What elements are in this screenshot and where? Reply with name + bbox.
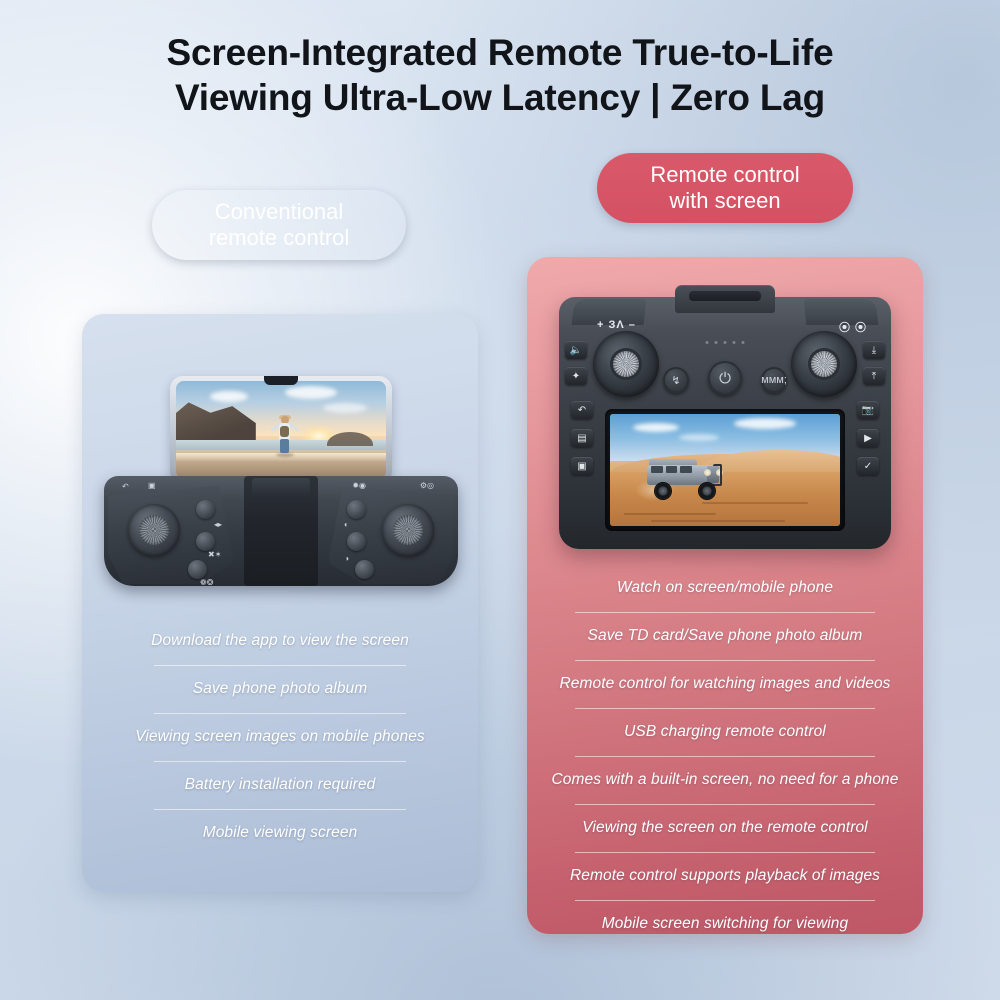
- mic-icon[interactable]: 🔈: [565, 341, 587, 359]
- return-icon: ↶: [122, 482, 129, 491]
- check-icon[interactable]: ✓: [857, 457, 879, 475]
- led-dot: [715, 341, 718, 344]
- menu-icon[interactable]: ▤: [571, 429, 593, 447]
- feature-item: Battery installation required: [82, 774, 478, 796]
- down-icon[interactable]: ⤓: [863, 341, 885, 359]
- card-remote-with-screen: + ЗΛ – ⦿ ⦿ ↯ ⏻ ммм; 🔈 ✦ ⤓ ⤒: [527, 257, 923, 934]
- arm-right: [289, 423, 300, 432]
- sand-ripple: [651, 520, 784, 522]
- badge-remote-with-screen: Remote control with screen: [597, 153, 853, 223]
- shoulder-buttons-right: ⤓ ⤒: [863, 341, 885, 385]
- cloud-icon: [633, 423, 679, 432]
- cloud-icon: [323, 403, 367, 413]
- side-buttons-right: 📷 ▶ ✓: [855, 401, 881, 475]
- led-dot: [724, 341, 727, 344]
- led-dot: [733, 341, 736, 344]
- divider: [575, 660, 875, 661]
- camera-icon[interactable]: 📷: [857, 401, 879, 419]
- built-in-screen-desert-scene: [610, 414, 840, 526]
- divider: [154, 713, 406, 714]
- controller-button-5[interactable]: [347, 532, 366, 551]
- badge-conventional-line-2: remote control: [209, 225, 350, 251]
- feature-item: Viewing the screen on the remote control: [527, 817, 923, 839]
- page-title: Screen-Integrated Remote True-to-Life Vi…: [0, 31, 1000, 121]
- wheel-front: [699, 483, 715, 499]
- divider: [575, 852, 875, 853]
- cloud-icon: [210, 391, 248, 402]
- feature-item: Mobile viewing screen: [82, 822, 478, 844]
- offroad-suv: [647, 459, 731, 503]
- divider: [575, 756, 875, 757]
- screen-remote-controller: + ЗΛ – ⦿ ⦿ ↯ ⏻ ммм; 🔈 ✦ ⤓ ⤒: [559, 297, 891, 549]
- gimbal-icon: ✖✶: [208, 550, 221, 559]
- phone-screen-beach-scene: [176, 381, 386, 479]
- legs: [280, 439, 289, 453]
- controller-button-4[interactable]: [347, 500, 366, 519]
- divider: [575, 612, 875, 613]
- joystick-right[interactable]: [791, 331, 857, 397]
- controller-button-6[interactable]: [355, 560, 374, 579]
- camera-icon: ▣: [148, 481, 156, 490]
- bull-bar: [713, 464, 722, 486]
- side-buttons-left: ↶ ▤ ▣: [569, 401, 595, 475]
- led-dot: [742, 341, 745, 344]
- gimbal-reset-button[interactable]: ммм;: [761, 367, 787, 393]
- divider: [575, 804, 875, 805]
- feature-item: Mobile screen switching for viewing: [527, 913, 923, 934]
- backpack: [280, 426, 289, 437]
- photo-icon: ◖: [343, 520, 348, 529]
- badge-conventional-line-1: Conventional: [209, 199, 350, 225]
- led-dot: [706, 341, 709, 344]
- suv-window: [666, 466, 677, 473]
- mode-icon: ❁❂: [200, 578, 213, 587]
- feature-item: Remote control supports playback of imag…: [527, 865, 923, 887]
- photo-icon[interactable]: ▣: [571, 457, 593, 475]
- feature-list-conventional: Download the app to view the screen Save…: [82, 630, 478, 844]
- badge-conventional-remote: Conventional remote control: [152, 190, 406, 260]
- suv-window: [651, 466, 663, 473]
- badge-screen-line-1: Remote control: [650, 162, 799, 188]
- video-icon: ◗: [345, 554, 350, 563]
- badge-screen-line-2: with screen: [650, 188, 799, 214]
- cloud-icon: [285, 386, 337, 399]
- suv-window: [680, 466, 692, 473]
- left-top-label: + ЗΛ –: [597, 319, 636, 331]
- person-with-raised-arms: [268, 413, 302, 457]
- video-icon[interactable]: ▶: [857, 429, 879, 447]
- divider: [154, 761, 406, 762]
- controller-button-3[interactable]: [188, 560, 207, 579]
- headlight: [704, 469, 711, 476]
- antenna-slot: [689, 291, 761, 301]
- light-icon: ✹◉: [352, 481, 366, 490]
- feature-item: Comes with a built-in screen, no need fo…: [527, 769, 923, 791]
- settings-icon: ⚙◎: [420, 481, 434, 490]
- feature-item: Download the app to view the screen: [82, 630, 478, 652]
- phone-notch: [264, 376, 298, 385]
- feature-item: USB charging remote control: [527, 721, 923, 743]
- divider: [154, 809, 406, 810]
- product-image-screen-remote: + ЗΛ – ⦿ ⦿ ↯ ⏻ ммм; 🔈 ✦ ⤓ ⤒: [527, 279, 923, 569]
- controller-button-1[interactable]: [196, 500, 215, 519]
- right-top-label: ⦿ ⦿: [839, 319, 867, 335]
- up-icon[interactable]: ⤒: [863, 367, 885, 385]
- feature-item: Viewing screen images on mobile phones: [82, 726, 478, 748]
- speed-icon: ◂▸: [214, 520, 222, 529]
- smartphone: [170, 376, 392, 484]
- shoulder-buttons-left: 🔈 ✦: [565, 341, 587, 385]
- joystick-left[interactable]: [593, 331, 659, 397]
- feature-item: Save TD card/Save phone photo album: [527, 625, 923, 647]
- feature-item: Save phone photo album: [82, 678, 478, 700]
- feature-item: Watch on screen/mobile phone: [527, 577, 923, 599]
- feature-item: Remote control for watching images and v…: [527, 673, 923, 695]
- page-title-line-2: Viewing Ultra-Low Latency | Zero Lag: [0, 76, 1000, 121]
- shadow: [276, 453, 294, 457]
- divider: [154, 665, 406, 666]
- built-in-screen-bezel: [605, 409, 845, 531]
- led-indicator-row: [706, 341, 745, 344]
- page-title-line-1: Screen-Integrated Remote True-to-Life: [0, 31, 1000, 76]
- bluetooth-icon[interactable]: ✦: [565, 367, 587, 385]
- back-icon[interactable]: ↶: [571, 401, 593, 419]
- controller-button-2[interactable]: [196, 532, 215, 551]
- divider: [575, 708, 875, 709]
- card-conventional-remote: ↶ ▣ ◂▸ ✖✶ ❁❂ ✹◉ ⚙◎ ◖ ◗ Download the app …: [82, 314, 478, 892]
- return-to-home-button[interactable]: ↯: [663, 367, 689, 393]
- joystick-right[interactable]: [382, 504, 434, 556]
- divider: [575, 900, 875, 901]
- wheel-rear: [655, 483, 671, 499]
- feature-list-screen-remote: Watch on screen/mobile phone Save TD car…: [527, 577, 923, 934]
- product-image-conventional-remote: ↶ ▣ ◂▸ ✖✶ ❁❂ ✹◉ ⚙◎ ◖ ◗: [82, 354, 478, 614]
- phone-clamp: [252, 478, 310, 498]
- power-button[interactable]: ⏻: [708, 361, 742, 395]
- sand-ripple: [624, 513, 716, 515]
- conventional-controller: ↶ ▣ ◂▸ ✖✶ ❁❂ ✹◉ ⚙◎ ◖ ◗: [104, 476, 458, 586]
- joystick-left[interactable]: [128, 504, 180, 556]
